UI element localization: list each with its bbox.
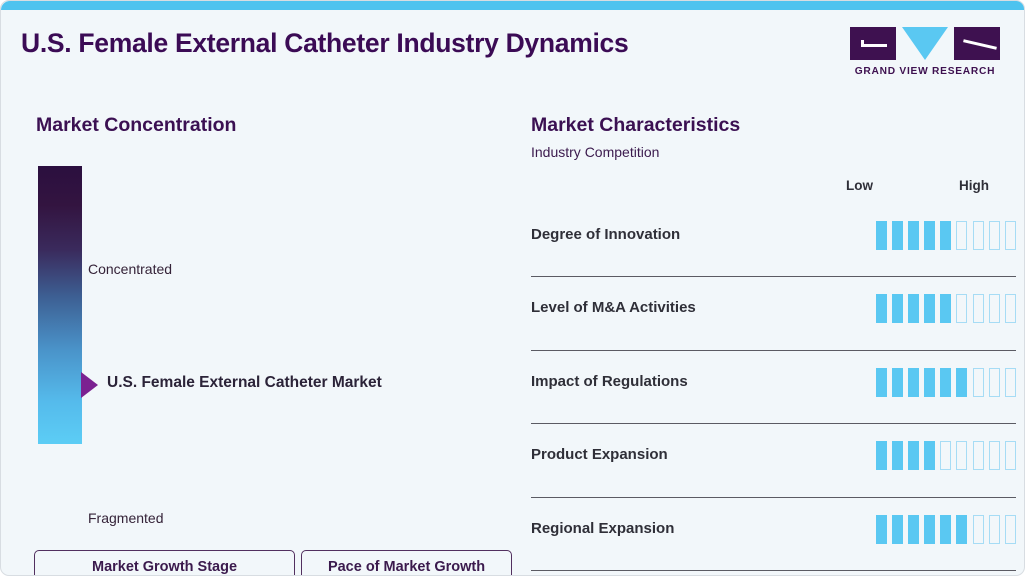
- rating-segment-filled: [876, 294, 887, 323]
- rating-segment-empty: [956, 441, 967, 470]
- characteristic-row: Regional Expansion: [531, 498, 1016, 571]
- rating-segment-empty: [1005, 294, 1016, 323]
- rating-segment-empty: [1005, 221, 1016, 250]
- rating-segment-filled: [940, 221, 951, 250]
- characteristics-rows: Degree of InnovationLevel of M&A Activit…: [531, 204, 1016, 571]
- rating-segment-empty: [973, 221, 984, 250]
- rating-segment-filled: [876, 515, 887, 544]
- characteristic-row: Impact of Regulations: [531, 351, 1016, 424]
- market-characteristics-title: Market Characteristics: [531, 114, 740, 137]
- rating-segment-empty: [989, 294, 1000, 323]
- rating-segment-filled: [908, 221, 919, 250]
- logo-g-tick: [861, 40, 864, 47]
- rating-segment-filled: [876, 368, 887, 397]
- rating-segment-filled: [940, 368, 951, 397]
- rating-segment-filled: [892, 368, 903, 397]
- market-characteristics-subtitle: Industry Competition: [531, 144, 659, 160]
- rating-bar: [876, 294, 1017, 323]
- rating-bar: [876, 368, 1017, 397]
- rating-segment-filled: [940, 294, 951, 323]
- pace-of-market-growth-heading: Pace of Market Growth: [302, 559, 511, 575]
- rating-scale-high-label: High: [959, 178, 989, 193]
- rating-segment-empty: [1005, 515, 1016, 544]
- rating-segment-filled: [876, 221, 887, 250]
- logo-r-icon: [954, 27, 1000, 60]
- scale-label-fragmented: Fragmented: [88, 510, 163, 526]
- rating-segment-empty: [973, 441, 984, 470]
- market-growth-stage-heading: Market Growth Stage: [35, 559, 294, 575]
- market-position-marker-icon: [81, 372, 98, 398]
- rating-segment-empty: [940, 441, 951, 470]
- rating-segment-filled: [956, 368, 967, 397]
- characteristic-label: Level of M&A Activities: [531, 299, 696, 316]
- rating-segment-filled: [924, 368, 935, 397]
- logo-g-icon: [850, 27, 896, 60]
- rating-scale-low-label: Low: [846, 178, 873, 193]
- logo-g-arm: [861, 44, 887, 47]
- rating-bar: [876, 221, 1017, 250]
- rating-segment-empty: [956, 294, 967, 323]
- rating-segment-empty: [973, 294, 984, 323]
- rating-segment-filled: [908, 441, 919, 470]
- characteristic-label: Impact of Regulations: [531, 373, 688, 390]
- market-concentration-panel: Market Concentration Concentrated Fragme…: [1, 86, 521, 576]
- characteristic-row: Product Expansion: [531, 424, 1016, 497]
- characteristic-label: Product Expansion: [531, 446, 668, 463]
- rating-segment-filled: [924, 221, 935, 250]
- market-growth-stage-box: Market Growth Stage Medium Low | Medium …: [34, 550, 295, 576]
- rating-segment-filled: [924, 294, 935, 323]
- rating-segment-empty: [989, 441, 1000, 470]
- rating-segment-filled: [892, 221, 903, 250]
- rating-segment-empty: [989, 368, 1000, 397]
- rating-segment-empty: [973, 515, 984, 544]
- grand-view-research-logo: GRAND VIEW RESEARCH: [850, 27, 1000, 77]
- characteristic-row: Level of M&A Activities: [531, 277, 1016, 350]
- logo-marks: [850, 27, 1000, 61]
- rating-segment-filled: [892, 294, 903, 323]
- rating-segment-empty: [956, 221, 967, 250]
- rating-segment-filled: [908, 515, 919, 544]
- rating-segment-filled: [908, 368, 919, 397]
- scale-label-concentrated: Concentrated: [88, 261, 172, 277]
- logo-text: GRAND VIEW RESEARCH: [850, 66, 1000, 77]
- rating-bar: [876, 515, 1017, 544]
- pace-of-market-growth-box: Pace of Market Growth Accelerating Accel…: [301, 550, 512, 576]
- top-accent-bar: [1, 1, 1025, 10]
- market-concentration-title: Market Concentration: [36, 114, 236, 137]
- rating-segment-empty: [1005, 368, 1016, 397]
- rating-segment-filled: [940, 515, 951, 544]
- rating-segment-empty: [973, 368, 984, 397]
- rating-segment-filled: [892, 441, 903, 470]
- rating-segment-empty: [989, 515, 1000, 544]
- market-position-label: U.S. Female External Catheter Market: [107, 374, 382, 392]
- rating-segment-empty: [1005, 441, 1016, 470]
- concentration-gradient-bar: [38, 166, 82, 444]
- characteristic-label: Regional Expansion: [531, 520, 674, 537]
- rating-segment-filled: [924, 441, 935, 470]
- rating-bar: [876, 441, 1017, 470]
- rating-segment-filled: [924, 515, 935, 544]
- logo-r-slash: [963, 39, 997, 50]
- rating-segment-filled: [908, 294, 919, 323]
- characteristic-label: Degree of Innovation: [531, 226, 680, 243]
- rating-segment-empty: [989, 221, 1000, 250]
- logo-v-triangle-icon: [902, 27, 948, 60]
- rating-segment-filled: [876, 441, 887, 470]
- rating-segment-filled: [956, 515, 967, 544]
- infographic-page: U.S. Female External Catheter Industry D…: [0, 0, 1025, 576]
- market-characteristics-panel: Market Characteristics Industry Competit…: [521, 86, 1025, 576]
- rating-segment-filled: [892, 515, 903, 544]
- header: U.S. Female External Catheter Industry D…: [1, 10, 1025, 86]
- page-title: U.S. Female External Catheter Industry D…: [21, 28, 628, 59]
- characteristic-row: Degree of Innovation: [531, 204, 1016, 277]
